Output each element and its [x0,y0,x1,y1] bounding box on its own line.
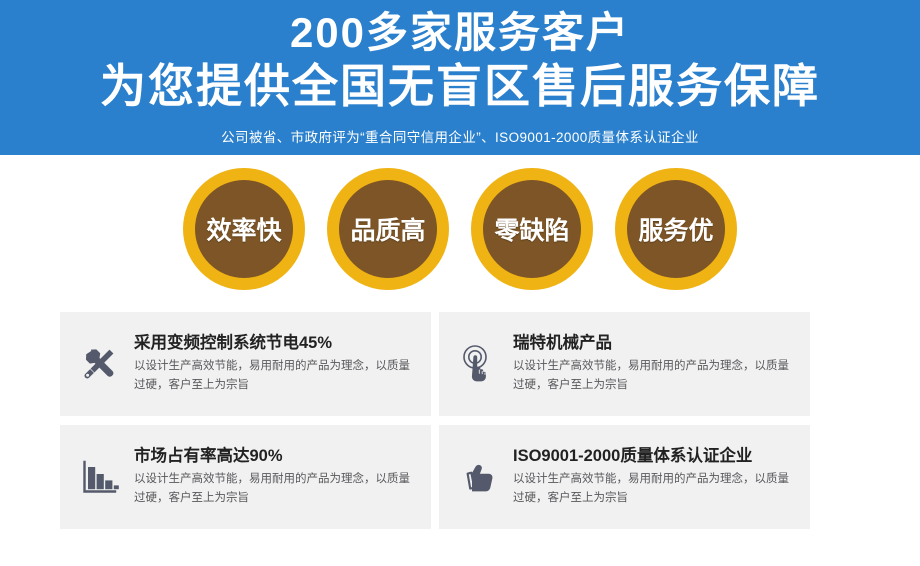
badge-inner-disc: 效率快 [195,180,293,278]
banner-content: 200多家服务客户 为您提供全国无盲区售后服务保障 公司被省、市政府评为“重合同… [0,0,920,146]
feature-card-grid: 采用变频控制系统节电45% 以设计生产高效节能，易用耐用的产品为理念，以质量过硬… [60,312,810,529]
banner-headline-line-2: 为您提供全国无盲区售后服务保障 [0,63,920,109]
thumbs-up-icon [447,446,509,508]
card-title: ISO9001-2000质量体系认证企业 [513,447,800,465]
feature-badge-row: 效率快 品质高 零缺陷 服务优 [0,167,920,291]
promo-banner: 200多家服务客户 为您提供全国无盲区售后服务保障 公司被省、市政府评为“重合同… [0,0,920,155]
feature-badge-service[interactable]: 服务优 [615,168,737,290]
badge-inner-disc: 品质高 [339,180,437,278]
feature-badge-quality[interactable]: 品质高 [327,168,449,290]
feature-card-market-share[interactable]: 市场占有率高达90% 以设计生产高效节能，易用耐用的产品为理念，以质量过硬，客户… [60,425,431,529]
card-description: 以设计生产高效节能，易用耐用的产品为理念，以质量过硬，客户至上为宗旨 [134,470,412,507]
card-body: 瑞特机械产品 以设计生产高效节能，易用耐用的产品为理念，以质量过硬，客户至上为宗… [509,334,800,394]
badge-inner-disc: 服务优 [627,180,725,278]
card-description: 以设计生产高效节能，易用耐用的产品为理念，以质量过硬，客户至上为宗旨 [513,357,791,394]
badge-label: 品质高 [350,211,425,247]
card-body: 采用变频控制系统节电45% 以设计生产高效节能，易用耐用的产品为理念，以质量过硬… [130,334,421,394]
card-body: ISO9001-2000质量体系认证企业 以设计生产高效节能，易用耐用的产品为理… [509,447,800,507]
touch-hand-icon [447,333,509,395]
feature-card-energy-saving[interactable]: 采用变频控制系统节电45% 以设计生产高效节能，易用耐用的产品为理念，以质量过硬… [60,312,431,416]
wrench-screwdriver-icon [68,333,130,395]
badge-label: 服务优 [638,211,713,247]
feature-card-iso-certification[interactable]: ISO9001-2000质量体系认证企业 以设计生产高效节能，易用耐用的产品为理… [439,425,810,529]
card-description: 以设计生产高效节能，易用耐用的产品为理念，以质量过硬，客户至上为宗旨 [513,470,791,507]
card-title: 瑞特机械产品 [513,334,800,352]
badge-inner-disc: 零缺陷 [483,180,581,278]
badge-label: 效率快 [206,211,281,247]
badge-label: 零缺陷 [494,211,569,247]
feature-card-products[interactable]: 瑞特机械产品 以设计生产高效节能，易用耐用的产品为理念，以质量过硬，客户至上为宗… [439,312,810,416]
card-title: 市场占有率高达90% [134,447,421,465]
card-title: 采用变频控制系统节电45% [134,334,421,352]
card-description: 以设计生产高效节能，易用耐用的产品为理念，以质量过硬，客户至上为宗旨 [134,357,412,394]
banner-headline-line-1: 200多家服务客户 [0,12,920,54]
feature-badge-zero-defect[interactable]: 零缺陷 [471,168,593,290]
card-body: 市场占有率高达90% 以设计生产高效节能，易用耐用的产品为理念，以质量过硬，客户… [130,447,421,507]
banner-subtitle: 公司被省、市政府评为“重合同守信用企业”、ISO9001-2000质量体系认证企… [0,126,920,146]
feature-badge-efficiency[interactable]: 效率快 [183,168,305,290]
bar-chart-icon [68,446,130,508]
